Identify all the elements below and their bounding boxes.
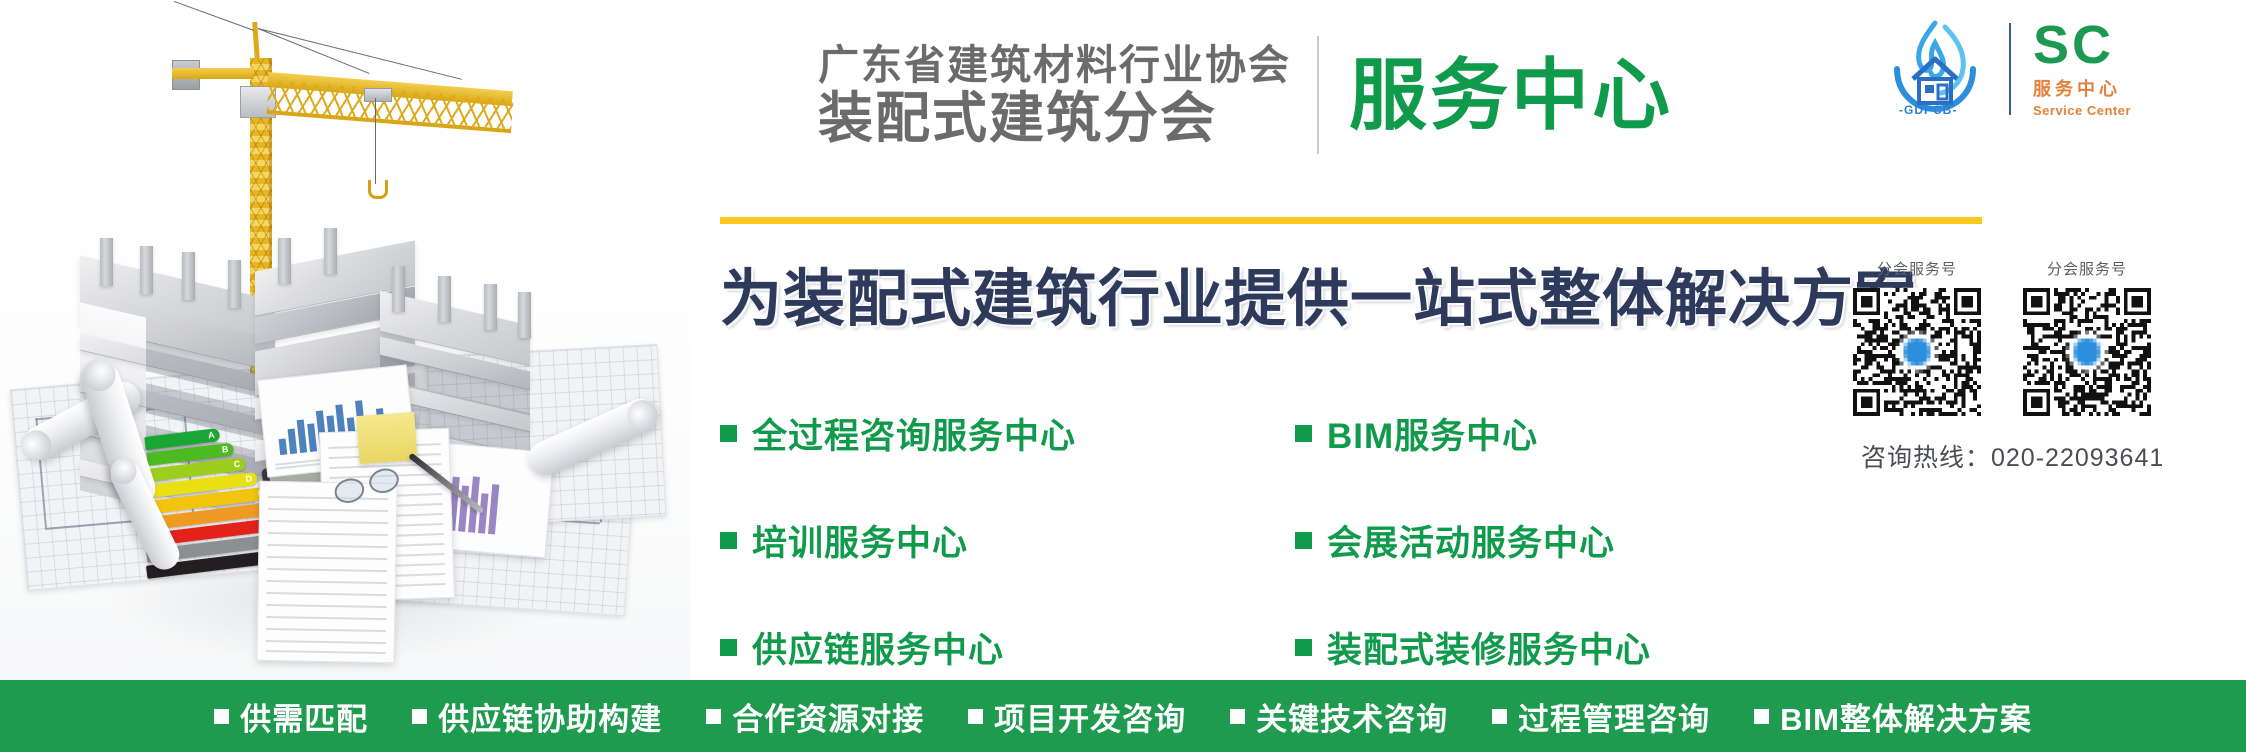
roof-column [100,238,113,286]
bottom-bar-item[interactable]: 过程管理咨询 [1492,694,1710,739]
square-bullet-icon [720,425,737,442]
logo-lockup: -GDPCB- SC 服务中心 Service Center [1883,14,2203,124]
square-bullet-icon [720,639,737,656]
yellow-divider [720,217,1982,224]
square-bullet-icon [706,709,721,724]
title-divider [1317,36,1319,154]
crane-trolley [364,88,392,102]
bottom-bar-label: 关键技术咨询 [1256,694,1448,739]
bottom-bar-label: 过程管理咨询 [1518,694,1710,739]
service-item-label: 装配式装修服务中心 [1327,622,1651,673]
square-bullet-icon [1295,532,1312,549]
construction-illustration: A B C D E F G H I [0,0,690,680]
qr-caption: 分会服务号 [2023,258,2151,279]
bottom-bar-item[interactable]: 关键技术咨询 [1230,694,1448,739]
square-bullet-icon [1230,709,1245,724]
square-bullet-icon [1295,425,1312,442]
logo-divider [2009,23,2011,115]
service-item[interactable]: 培训服务中心 [720,515,1076,566]
bottom-bar-label: BIM整体解决方案 [1780,694,2032,739]
roof-column [392,266,405,312]
qr-code-image[interactable] [2023,288,2151,416]
roof-column [140,246,153,294]
bottom-bar-item[interactable]: 项目开发咨询 [968,694,1186,739]
organization-title: 广东省建筑材料行业协会 装配式建筑分会 服务中心 [818,36,1673,154]
crane-wire [258,28,462,80]
qr-cell: 分会服务号 [2023,258,2151,416]
slogan-headline: 为装配式建筑行业提供一站式整体解决方案 [720,248,1917,338]
roof-column [278,238,291,284]
sc-chinese-label: 服务中心 [2033,75,2131,101]
service-item[interactable]: BIM服务中心 [1295,408,1651,459]
service-item-label: 全过程咨询服务中心 [752,408,1076,459]
roof-column [484,284,497,330]
square-bullet-icon [968,709,983,724]
roof-column [324,228,337,274]
service-item[interactable]: 供应链服务中心 [720,622,1076,673]
roof-column [438,276,451,322]
service-item[interactable]: 全过程咨询服务中心 [720,408,1076,459]
sc-initials: SC [2033,20,2131,71]
square-bullet-icon [1492,709,1507,724]
bottom-bar-label: 供需匹配 [240,694,368,739]
application-form [256,481,397,663]
service-item-label: 供应链服务中心 [752,622,1004,673]
crane-counter-jib [172,68,254,79]
sc-english-label: Service Center [2033,103,2131,118]
qr-contact-block: 分会服务号 分会服务号 咨询热线：020-22093641 [1853,258,2213,474]
square-bullet-icon [720,532,737,549]
qr-caption: 分会服务号 [1853,258,1981,279]
service-item-label: BIM服务中心 [1327,408,1538,459]
services-bottom-bar: 供需匹配 供应链协助构建 合作资源对接 项目开发咨询 关键技术咨询 过程管理咨询… [0,680,2246,752]
crane-wire [174,1,254,31]
square-bullet-icon [1754,709,1769,724]
qr-code-image[interactable] [1853,288,1981,416]
sc-logo: SC 服务中心 Service Center [2033,20,2131,117]
banner-content: 广东省建筑材料行业协会 装配式建筑分会 服务中心 为装配式建筑行业提供一站式整体… [690,0,2246,680]
gdpcb-logo-icon: -GDPCB- [1883,17,1987,121]
bottom-bar-item[interactable]: BIM整体解决方案 [1754,694,2032,739]
square-bullet-icon [412,709,427,724]
roof-column [228,260,241,308]
qr-cell: 分会服务号 [1853,258,1981,416]
hotline-text: 咨询热线：020-22093641 [1861,438,2213,474]
bottom-bar-label: 项目开发咨询 [994,694,1186,739]
service-item-label: 培训服务中心 [752,515,968,566]
org-name-line2: 装配式建筑分会 [818,89,1291,147]
org-name-line1: 广东省建筑材料行业协会 [818,43,1291,89]
service-item[interactable]: 装配式装修服务中心 [1295,622,1651,673]
promotional-banner: A B C D E F G H I [0,0,2246,752]
bottom-bar-label: 供应链协助构建 [438,694,662,739]
service-item[interactable]: 会展活动服务中心 [1295,515,1651,566]
bottom-bar-item[interactable]: 供应链协助构建 [412,694,662,739]
square-bullet-icon [214,709,229,724]
service-item-label: 会展活动服务中心 [1327,515,1615,566]
square-bullet-icon [1295,639,1312,656]
service-center-title: 服务中心 [1349,56,1673,134]
roof-column [518,292,531,338]
bottom-bar-item[interactable]: 供需匹配 [214,694,368,739]
bottom-bar-label: 合作资源对接 [732,694,924,739]
gdpcb-caption: -GDPCB- [1899,103,1957,117]
bottom-bar-item[interactable]: 合作资源对接 [706,694,924,739]
roof-column [182,252,195,300]
